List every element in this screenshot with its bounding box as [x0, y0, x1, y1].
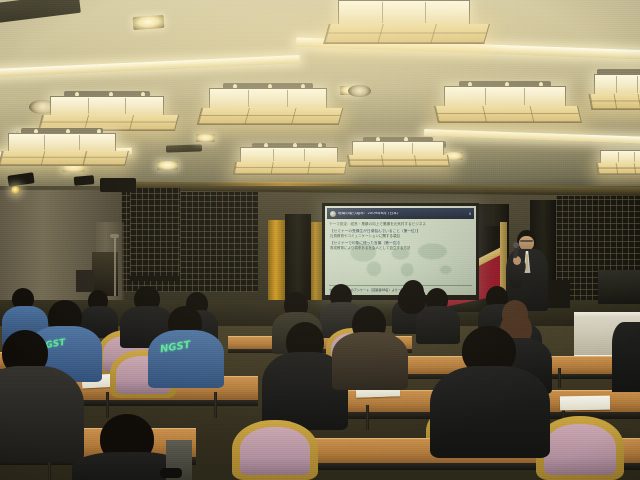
pendant-light [600, 150, 640, 176]
microphone-head-icon [513, 242, 519, 248]
banquet-chair [232, 420, 318, 480]
pendant-light [240, 147, 338, 177]
attendee-body [612, 322, 640, 392]
recessed-light [157, 161, 178, 170]
fluorescent-strip [296, 37, 640, 59]
amber-door-panel [310, 222, 322, 308]
attendee-head [398, 284, 426, 314]
spotlight-icon [11, 186, 20, 194]
pendant-light [50, 96, 164, 132]
mic-stand-head [110, 234, 119, 238]
recessed-downlight [29, 100, 56, 114]
attendee-body [0, 366, 84, 462]
pendant-light [338, 0, 470, 46]
slide-subtitle: テーマ設定：経営・業績の向上で業績を元気村するビジネス [329, 222, 472, 226]
slide-block-body: 育成教育により将来ある社会人として自立する方法 [330, 246, 471, 250]
mic-stand [114, 238, 116, 296]
lattice-wall-panel [130, 188, 180, 278]
ceiling-vent [0, 0, 81, 23]
ceiling [0, 0, 640, 196]
slide-block-heading: 【セミナーの受講生が日頃悩んでいること（第一位）】 [330, 229, 471, 233]
slide-block: 【セミナーで印象に残った言葉（第一位）】 育成教育により将来ある社会人として自立… [330, 241, 471, 250]
pendant-light [209, 88, 327, 126]
ceiling-vent [166, 144, 202, 152]
recessed-light [62, 163, 85, 172]
slide-title: 地域の取り組み：2009年6月 (日本) [338, 212, 399, 216]
slide-block: 【セミナーの受講生が日頃悩んでいること（第一位）】 社員教育やコミュニケーション… [330, 229, 471, 238]
recessed-light [133, 15, 165, 30]
amber-door-panel [268, 220, 285, 312]
pendant-light [594, 74, 640, 110]
fluorescent-strip [0, 55, 300, 77]
recessed-light [444, 152, 463, 160]
jacket-back-text: NGST [159, 340, 191, 356]
attendee-body [416, 306, 460, 344]
pendant-light [8, 133, 116, 167]
slide-block-heading: 【セミナーで印象に残った言葉（第一位）】 [330, 241, 471, 245]
attendee-shoe [160, 468, 182, 478]
attendee-body-blue-jacket: NGST [148, 330, 224, 388]
slide-content: 地域の取り組み：2009年6月 (日本) 8 テーマ設定：経営・業績の向上で業績… [325, 206, 476, 295]
fluorescent-strip [0, 148, 132, 160]
slide-page-number: 8 [469, 212, 471, 216]
recessed-light [340, 86, 361, 95]
fluorescent-strip [424, 129, 640, 144]
document-booklet [560, 396, 610, 411]
speaker-housing [74, 175, 95, 186]
pendant-light [352, 141, 444, 169]
slide-logo-icon [330, 211, 336, 217]
recessed-light [16, 131, 39, 140]
slide-title-bar: 地域の取り組み：2009年6月 (日本) 8 [327, 208, 474, 219]
monitor-back [598, 270, 640, 304]
slide-block-body: 社員教育やコミュニケーションに関する項目 [330, 234, 471, 238]
projector-mount [100, 178, 136, 192]
attendee-body [430, 366, 550, 458]
pendant-light [444, 86, 566, 124]
ceiling-vent [410, 141, 446, 148]
equipment-box [76, 270, 94, 292]
recessed-downlight [348, 85, 371, 97]
presenter-glasses-icon [520, 240, 533, 242]
wall-beam-glow [206, 182, 366, 186]
attendee-body [332, 332, 408, 390]
seminar-room-photo: 地域の取り組み：2009年6月 (日本) 8 テーマ設定：経営・業績の向上で業績… [0, 0, 640, 480]
recessed-light [196, 134, 215, 142]
